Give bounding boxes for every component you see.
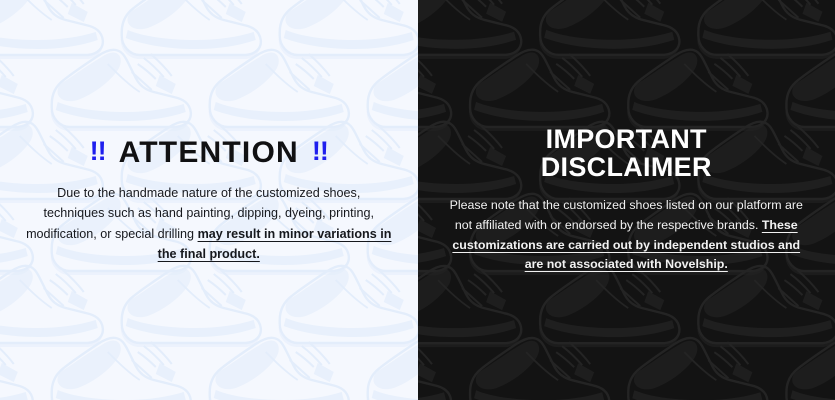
disclaimer-panel: IMPORTANT DISCLAIMER Please note that th… — [418, 0, 835, 400]
disclaimer-heading: IMPORTANT DISCLAIMER — [444, 125, 810, 181]
disclaimer-body: Please note that the customized shoes li… — [444, 196, 810, 274]
attention-body: Due to the handmade nature of the custom… — [26, 183, 392, 265]
disclaimer-banner: !! ATTENTION !! Due to the handmade natu… — [0, 0, 835, 400]
attention-heading-text: ATTENTION — [119, 136, 299, 170]
attention-content: !! ATTENTION !! Due to the handmade natu… — [0, 136, 418, 265]
disclaimer-heading-line1: IMPORTANT — [546, 124, 707, 154]
disclaimer-body-normal: Please note that the customized shoes li… — [450, 198, 803, 232]
attention-panel: !! ATTENTION !! Due to the handmade natu… — [0, 0, 418, 400]
exclamation-left-icon: !! — [90, 138, 106, 165]
disclaimer-content: IMPORTANT DISCLAIMER Please note that th… — [418, 125, 835, 275]
attention-heading: !! ATTENTION !! — [26, 136, 392, 170]
disclaimer-heading-line2: DISCLAIMER — [541, 152, 712, 182]
exclamation-right-icon: !! — [312, 138, 328, 165]
